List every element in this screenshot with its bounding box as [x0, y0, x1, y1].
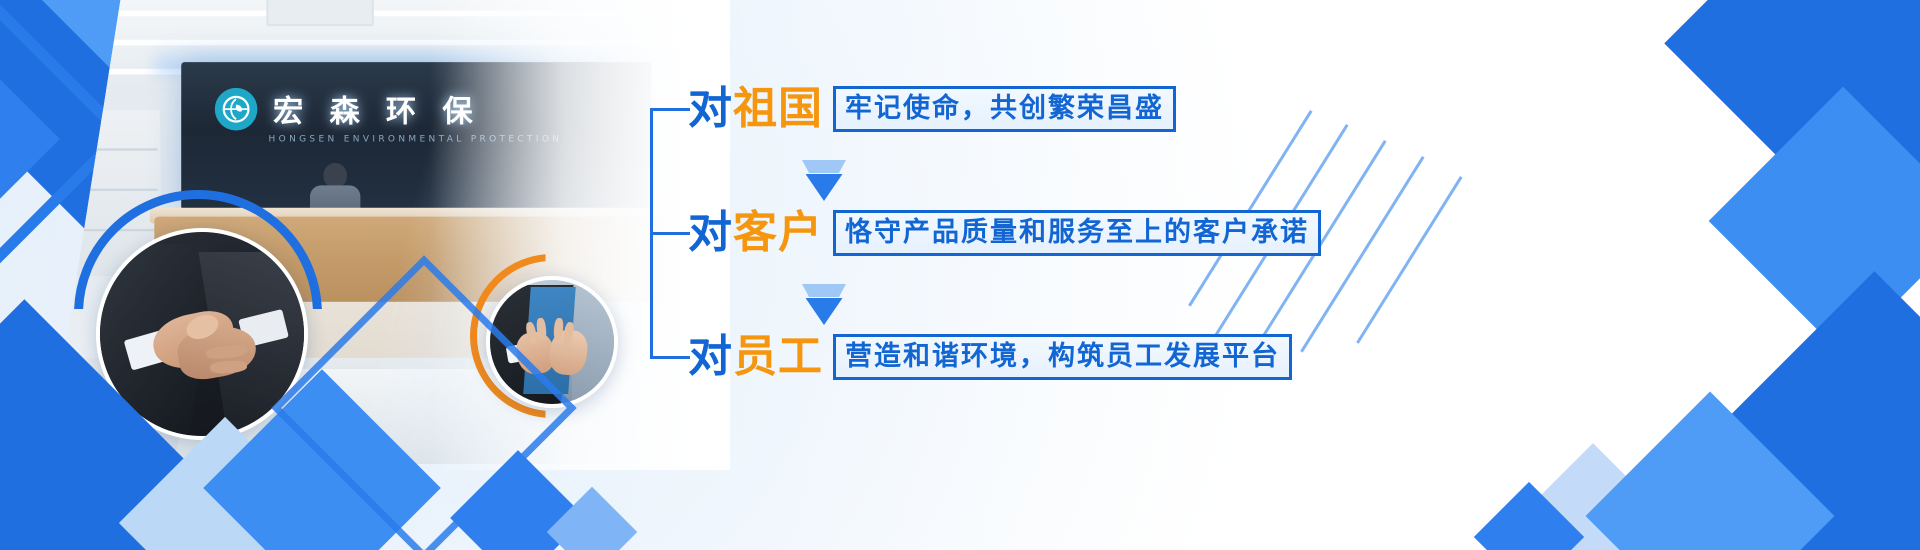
- commitment-subject-country: 祖国: [733, 78, 823, 140]
- commitment-prefix: 对: [688, 78, 733, 140]
- commitment-row-country: 对 祖国 牢记使命，共创繁荣昌盛: [688, 78, 1176, 140]
- commitment-statement-employee: 营造和谐环境，构筑员工发展平台: [833, 334, 1292, 380]
- chevron-down-triangle-icon: [802, 284, 846, 325]
- globe-leaf-icon: [215, 87, 258, 130]
- commitment-subject-employee: 员工: [733, 326, 823, 388]
- commitment-prefix: 对: [688, 202, 733, 264]
- corporate-values-banner: 宏 森 环 保 HONGSEN ENVIRONMENTAL PROTECTION: [0, 0, 1920, 550]
- commitment-subject-customer: 客户: [733, 202, 823, 264]
- commitment-row-customer: 对 客户 恪守产品质量和服务至上的客户承诺: [688, 202, 1321, 264]
- commitment-statement-country: 牢记使命，共创繁荣昌盛: [833, 86, 1176, 132]
- chevron-down-triangle-icon: [802, 160, 846, 201]
- ceiling-vent: [266, 0, 374, 26]
- commitment-statement-customer: 恪守产品质量和服务至上的客户承诺: [833, 210, 1321, 256]
- commitment-row-employee: 对 员工 营造和谐环境，构筑员工发展平台: [688, 326, 1292, 388]
- commitment-prefix: 对: [688, 326, 733, 388]
- commitments-block: 对 祖国 牢记使命，共创繁荣昌盛 对 客户 恪守产品质量和服务至上的客户承诺 对…: [650, 74, 1770, 384]
